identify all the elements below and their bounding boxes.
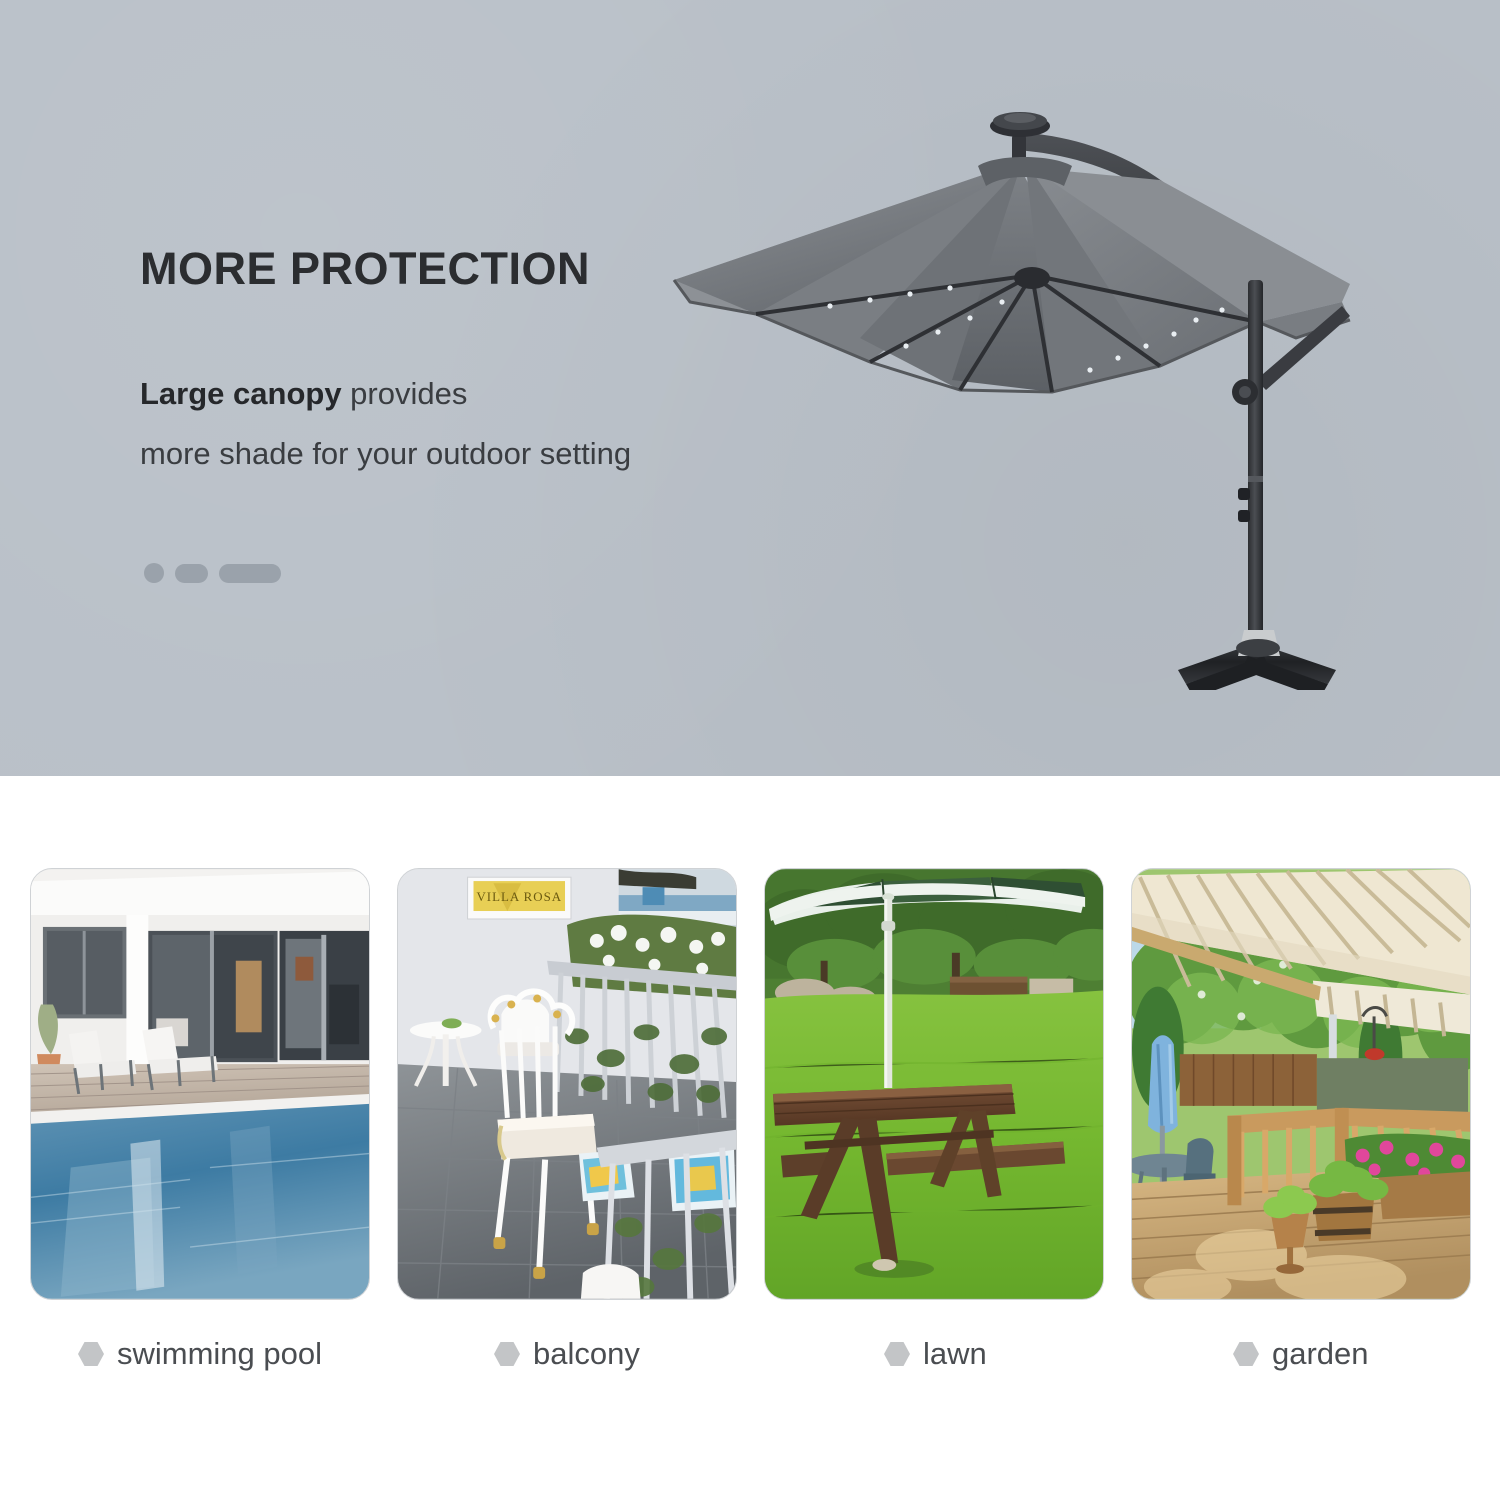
caption-label: garden [1272, 1336, 1369, 1372]
product-feature-page: MORE PROTECTION Large canopy provides mo… [0, 0, 1500, 1500]
thumbnail-caption-lawn: lawn [764, 1336, 1104, 1372]
thumbnail-cell-balcony: VILLA ROSA [397, 868, 737, 1372]
pager-dot-icon[interactable] [144, 563, 164, 583]
subcopy-rest: provides [342, 376, 468, 411]
villa-rosa-sign: VILLA ROSA [468, 877, 571, 919]
hero-panel: MORE PROTECTION Large canopy provides mo… [0, 0, 1500, 776]
thumbnail-caption-balcony: balcony [397, 1336, 737, 1372]
thumbnail-cell-lawn: lawn [764, 868, 1104, 1372]
thumbnail-cell-swimming-pool: swimming pool [30, 868, 370, 1372]
hexagon-bullet-icon [1233, 1341, 1259, 1367]
thumbnail-image-lawn[interactable] [764, 868, 1104, 1300]
hexagon-bullet-icon [884, 1341, 910, 1367]
thumbnail-caption-garden: garden [1131, 1336, 1471, 1372]
pager-pill-small-icon[interactable] [175, 564, 208, 583]
thumbnail-cell-garden: garden [1131, 868, 1471, 1372]
subcopy-strong: Large canopy [140, 376, 342, 411]
product-image-cantilever-umbrella [660, 70, 1380, 690]
pager-pill-large-icon[interactable] [219, 564, 281, 583]
hexagon-bullet-icon [494, 1341, 520, 1367]
pagination-indicator[interactable] [144, 563, 281, 583]
thumbnail-caption-swimming-pool: swimming pool [30, 1336, 370, 1372]
crank-handle [1232, 379, 1258, 405]
hexagon-bullet-icon [78, 1341, 104, 1367]
use-case-strip: swimming pool [0, 776, 1500, 1500]
caption-label: lawn [923, 1336, 987, 1372]
caption-label: balcony [533, 1336, 640, 1372]
svg-text:VILLA ROSA: VILLA ROSA [476, 889, 562, 904]
umbrella-hub [1014, 267, 1050, 289]
thumbnail-image-balcony[interactable]: VILLA ROSA [397, 868, 737, 1300]
thumbnail-image-swimming-pool[interactable] [30, 868, 370, 1300]
caption-label: swimming pool [117, 1336, 322, 1372]
umbrella-pole [1248, 280, 1263, 655]
thumbnail-row: swimming pool [30, 868, 1470, 1372]
thumbnail-image-garden[interactable] [1131, 868, 1471, 1300]
umbrella-cross-base [1178, 630, 1336, 690]
